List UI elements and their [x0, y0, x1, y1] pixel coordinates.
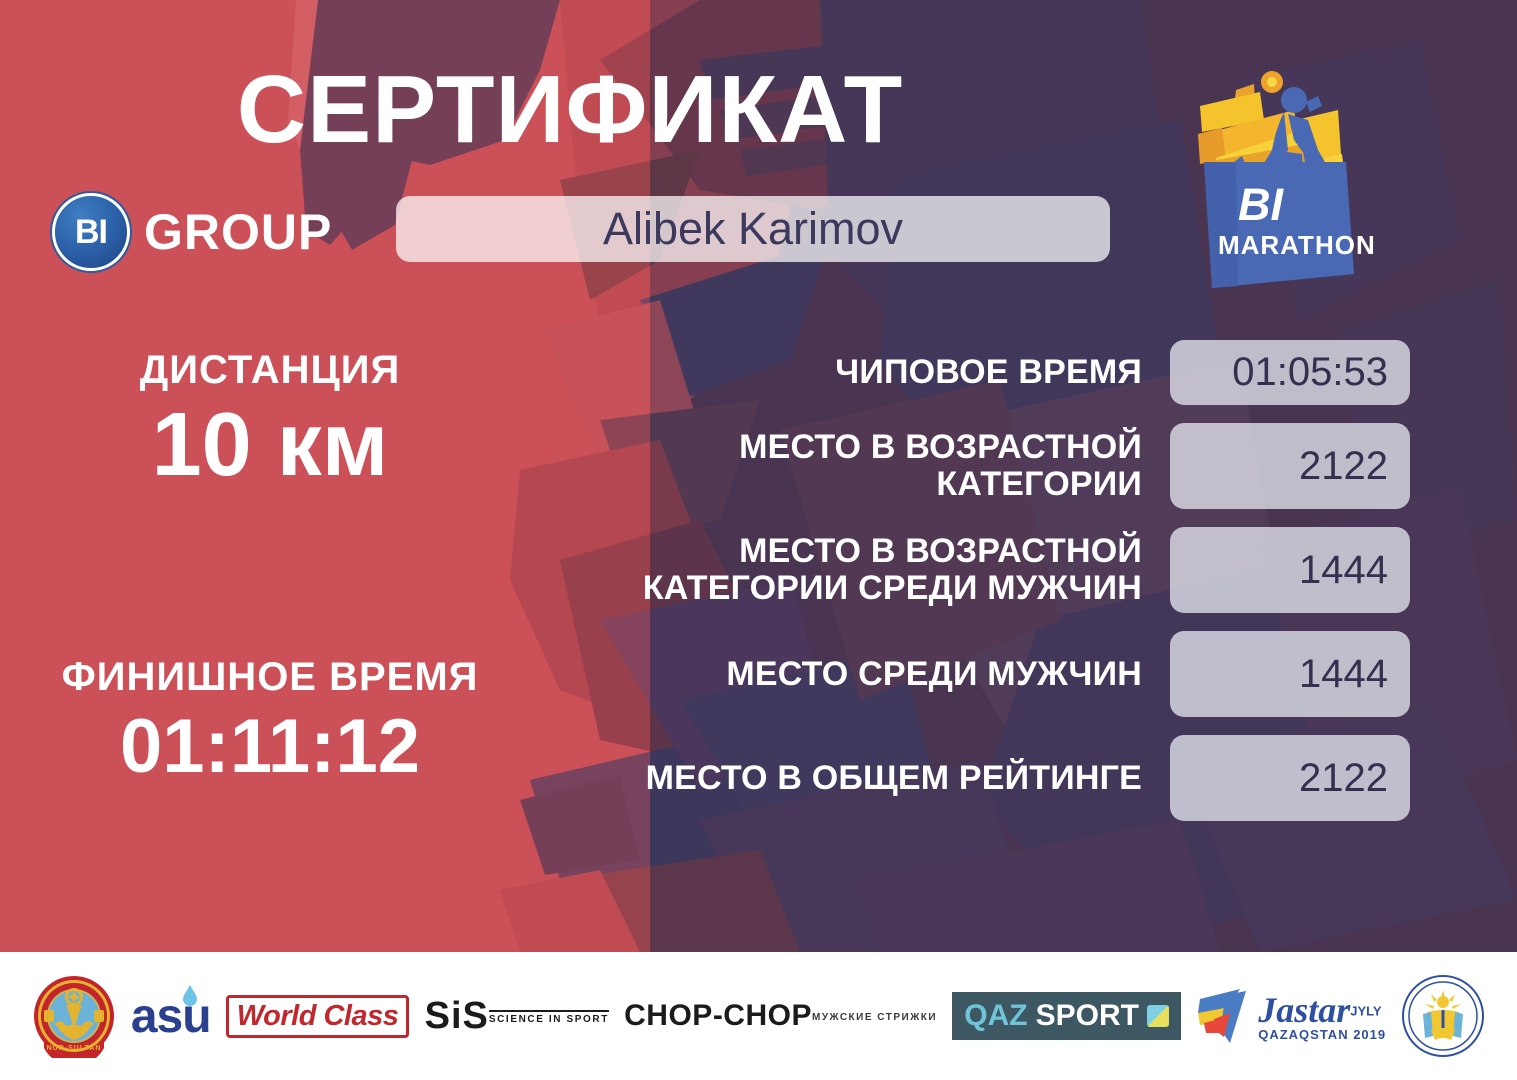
qazsport-square-icon: [1147, 1005, 1169, 1027]
marathon-logo-line2: MARATHON: [1218, 230, 1376, 260]
nur-sultan-emblem-icon: NUR-SULTAN: [32, 974, 116, 1058]
bi-marathon-logo: BI MARATHON: [1176, 58, 1386, 308]
bi-group-logo: BI GROUP: [52, 193, 332, 271]
jastar-tagline: QAZAQSTAN 2019: [1258, 1028, 1386, 1041]
result-value: 1444: [1170, 631, 1410, 717]
asu-drop-icon: [181, 985, 199, 1007]
marathon-logo-line1: BI: [1238, 179, 1284, 230]
result-row: МЕСТО В ВОЗРАСТНОЙ КАТЕГОРИИ 2122: [600, 423, 1410, 509]
jastar-wordmark: Jastar: [1258, 990, 1350, 1030]
result-label: МЕСТО СРЕДИ МУЖЧИН: [600, 656, 1142, 693]
participant-name: Alibek Karimov: [396, 196, 1110, 262]
result-label: МЕСТО В ВОЗРАСТНОЙ КАТЕГОРИИ СРЕДИ МУЖЧИ…: [600, 533, 1142, 606]
chop-chop-wordmark: CHOP-CHOP: [624, 999, 812, 1033]
qazsport-sport: SPORT: [1036, 999, 1139, 1033]
distance-value: 10 км: [30, 398, 510, 493]
sponsor-asu: asu: [131, 989, 211, 1044]
svg-text:NUR-SULTAN: NUR-SULTAN: [46, 1045, 101, 1052]
result-label: ЧИПОВОЕ ВРЕМЯ: [600, 354, 1142, 391]
result-row: МЕСТО В ВОЗРАСТНОЙ КАТЕГОРИИ СРЕДИ МУЖЧИ…: [600, 527, 1410, 613]
jastar-arrow-icon: [1196, 985, 1252, 1047]
chop-chop-tagline: МУЖСКИЕ СТРИЖКИ: [812, 1012, 937, 1023]
result-value: 2122: [1170, 735, 1410, 821]
finish-time-value: 01:11:12: [30, 707, 510, 787]
sponsor-nur-sultan: NUR-SULTAN: [32, 974, 116, 1058]
jastar-jyly: JYLY: [1350, 1003, 1381, 1018]
finish-time-label: ФИНИШНОЕ ВРЕМЯ: [30, 655, 510, 699]
result-value: 01:05:53: [1170, 340, 1410, 405]
sis-tagline: SCIENCE IN SPORT: [489, 1010, 609, 1025]
result-value: 2122: [1170, 423, 1410, 509]
finish-time-block: ФИНИШНОЕ ВРЕМЯ 01:11:12: [30, 655, 510, 787]
distance-label: ДИСТАНЦИЯ: [30, 348, 510, 392]
sponsor-jastar: JastarJYLY QAZAQSTAN 2019: [1196, 985, 1386, 1047]
bi-circle-icon: BI: [52, 193, 130, 271]
result-value: 1444: [1170, 527, 1410, 613]
brand-wordmark: GROUP: [144, 203, 332, 261]
qazsport-qaz: QAZ: [964, 999, 1027, 1033]
sponsor-qazsport: QAZSPORT: [952, 992, 1181, 1040]
distance-block: ДИСТАНЦИЯ 10 км: [30, 348, 510, 493]
sponsor-world-class: World Class: [226, 995, 410, 1038]
world-class-wordmark: World Class: [226, 995, 410, 1038]
ministry-emblem-icon: [1401, 974, 1485, 1058]
sponsor-chop-chop: CHOP-CHOP МУЖСКИЕ СТРИЖКИ: [624, 999, 937, 1033]
sponsor-footer: NUR-SULTAN asu World Class SiS SCIENCE I…: [0, 952, 1517, 1080]
sponsor-sis: SiS SCIENCE IN SPORT: [425, 998, 609, 1034]
sponsor-ministry: [1401, 974, 1485, 1058]
sis-wordmark: SiS: [425, 998, 489, 1034]
result-label: МЕСТО В ВОЗРАСТНОЙ КАТЕГОРИИ: [600, 429, 1142, 502]
page-title: СЕРТИФИКАТ: [0, 62, 1140, 158]
result-label: МЕСТО В ОБЩЕМ РЕЙТИНГЕ: [600, 760, 1142, 797]
results-list: ЧИПОВОЕ ВРЕМЯ 01:05:53 МЕСТО В ВОЗРАСТНО…: [600, 340, 1410, 839]
result-row: МЕСТО В ОБЩЕМ РЕЙТИНГЕ 2122: [600, 735, 1410, 821]
result-row: МЕСТО СРЕДИ МУЖЧИН 1444: [600, 631, 1410, 717]
certificate-canvas: СЕРТИФИКАТ BI GROUP Alibek Karimov BI M: [0, 0, 1517, 1080]
result-row: ЧИПОВОЕ ВРЕМЯ 01:05:53: [600, 340, 1410, 405]
